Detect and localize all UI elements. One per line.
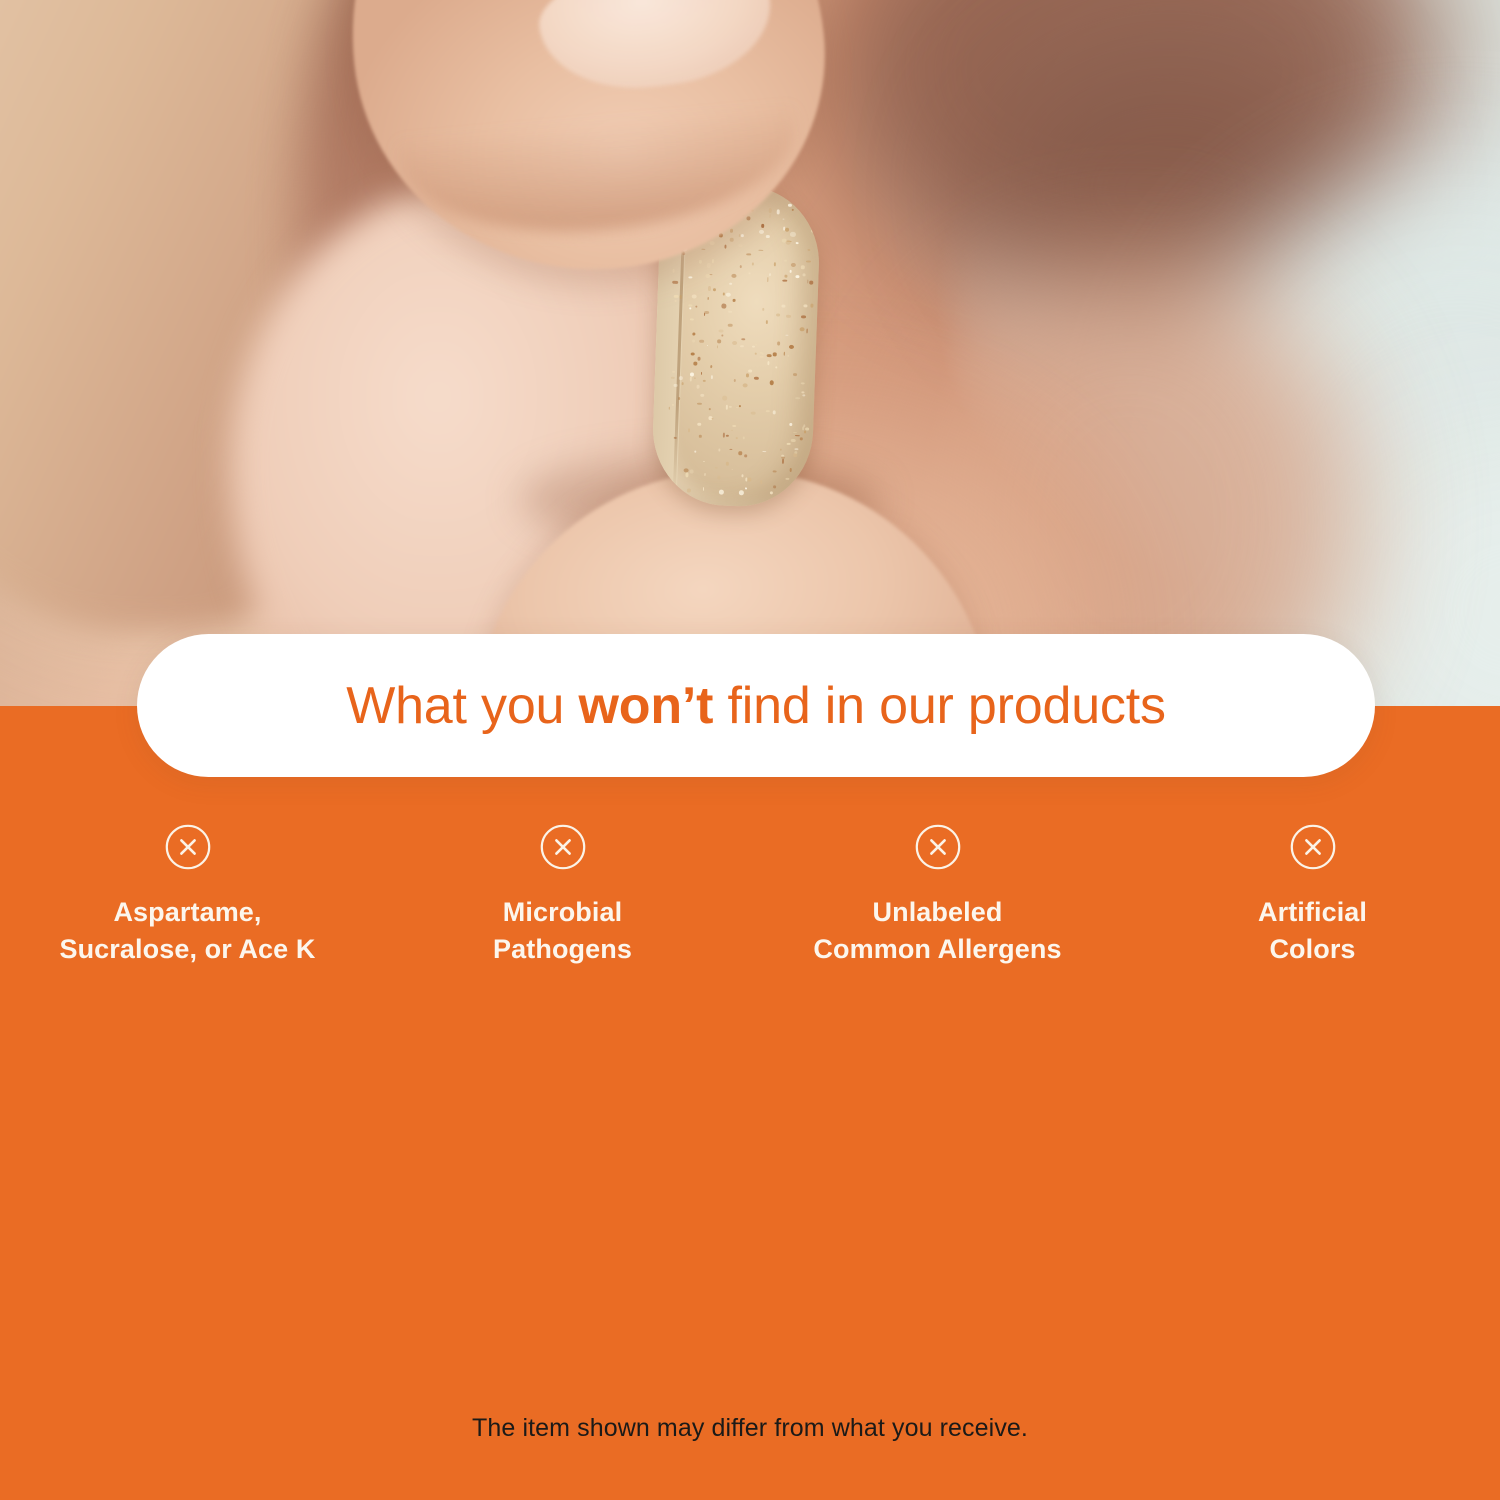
circle-x-icon (165, 824, 211, 870)
exclusion-item: Artificial Colors (1125, 824, 1500, 1002)
circle-x-icon (915, 824, 961, 870)
exclusion-label: Microbial Pathogens (493, 894, 632, 969)
exclusions-row: Aspartame, Sucralose, or Ace K Microbial… (0, 824, 1500, 1014)
exclusion-item: Unlabeled Common Allergens (750, 824, 1125, 1002)
headline-emphasis: won’t (579, 677, 714, 735)
exclusion-label: Aspartame, Sucralose, or Ace K (59, 894, 315, 969)
headline-card: What you won’t find in our products (137, 634, 1375, 777)
disclaimer-text: The item shown may differ from what you … (0, 1414, 1500, 1443)
circle-x-icon (540, 824, 586, 870)
page-title: What you won’t find in our products (346, 680, 1166, 732)
headline-suffix: find in our products (713, 677, 1166, 735)
headline-prefix: What you (346, 677, 578, 735)
circle-x-icon (1290, 824, 1336, 870)
exclusions-grid: Aspartame, Sucralose, or Ace K Microbial… (0, 824, 1500, 1014)
exclusion-item: Microbial Pathogens (375, 824, 750, 1002)
exclusion-item: Aspartame, Sucralose, or Ace K (0, 824, 375, 1002)
exclusion-label: Unlabeled Common Allergens (813, 894, 1061, 969)
exclusion-label: Artificial Colors (1258, 894, 1367, 969)
infographic-canvas: What you won’t find in our products Aspa… (0, 0, 1500, 1500)
hero-photo (0, 0, 1500, 706)
